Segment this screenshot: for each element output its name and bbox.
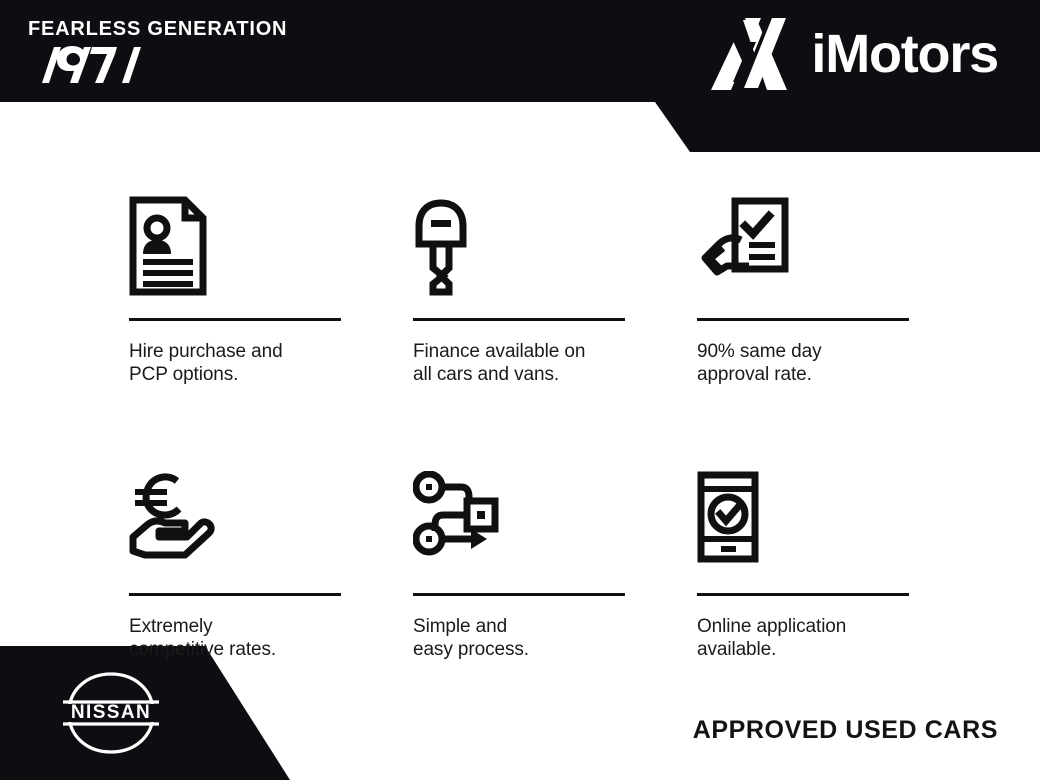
document-person-icon xyxy=(129,196,341,300)
feature-divider xyxy=(697,593,909,596)
smartphone-check-icon xyxy=(697,471,909,575)
feature-label: Online application available. xyxy=(697,616,909,661)
features-row-1: Hire purchase and PCP options. Finance a… xyxy=(129,196,911,386)
feature-divider xyxy=(129,318,341,321)
header-tagline: FEARLESS GENERATION xyxy=(28,18,328,40)
feature-item: Extremely competitive rates. xyxy=(129,471,341,661)
feature-item: Online application available. xyxy=(697,471,909,661)
euro-hand-icon xyxy=(129,471,341,575)
feature-label: Extremely competitive rates. xyxy=(129,616,341,661)
feature-item: 90% same day approval rate. xyxy=(697,196,909,386)
features-grid: Hire purchase and PCP options. Finance a… xyxy=(129,196,911,661)
brand-logo-lockup: iMotors xyxy=(709,16,998,92)
feature-divider xyxy=(697,318,909,321)
footer-tagline: APPROVED USED CARS xyxy=(693,716,998,744)
feature-label: Hire purchase and PCP options. xyxy=(129,341,341,386)
hand-holding-checklist-icon xyxy=(697,196,909,300)
feature-label: Simple and easy process. xyxy=(413,616,625,661)
process-flow-icon xyxy=(413,471,625,575)
promo-banner: FEARLESS GENERATION xyxy=(0,0,1040,780)
feature-label: 90% same day approval rate. xyxy=(697,341,909,386)
header: FEARLESS GENERATION xyxy=(0,0,1040,103)
feature-item: Hire purchase and PCP options. xyxy=(129,196,341,386)
features-row-2: Extremely competitive rates. xyxy=(129,471,911,661)
feature-divider xyxy=(129,593,341,596)
feature-item: Finance available on all cars and vans. xyxy=(413,196,625,386)
1971-slanted-logotype-icon xyxy=(28,43,148,87)
nissan-logo-icon: NISSAN xyxy=(55,668,167,756)
fearless-generation-block: FEARLESS GENERATION xyxy=(28,18,328,92)
feature-label: Finance available on all cars and vans. xyxy=(413,341,625,386)
feature-divider xyxy=(413,318,625,321)
brand-name: iMotors xyxy=(811,26,998,82)
svg-text:NISSAN: NISSAN xyxy=(71,702,151,723)
car-key-icon xyxy=(413,196,625,300)
feature-divider xyxy=(413,593,625,596)
imotors-chevron-logo-icon xyxy=(709,16,795,92)
feature-item: Simple and easy process. xyxy=(413,471,625,661)
